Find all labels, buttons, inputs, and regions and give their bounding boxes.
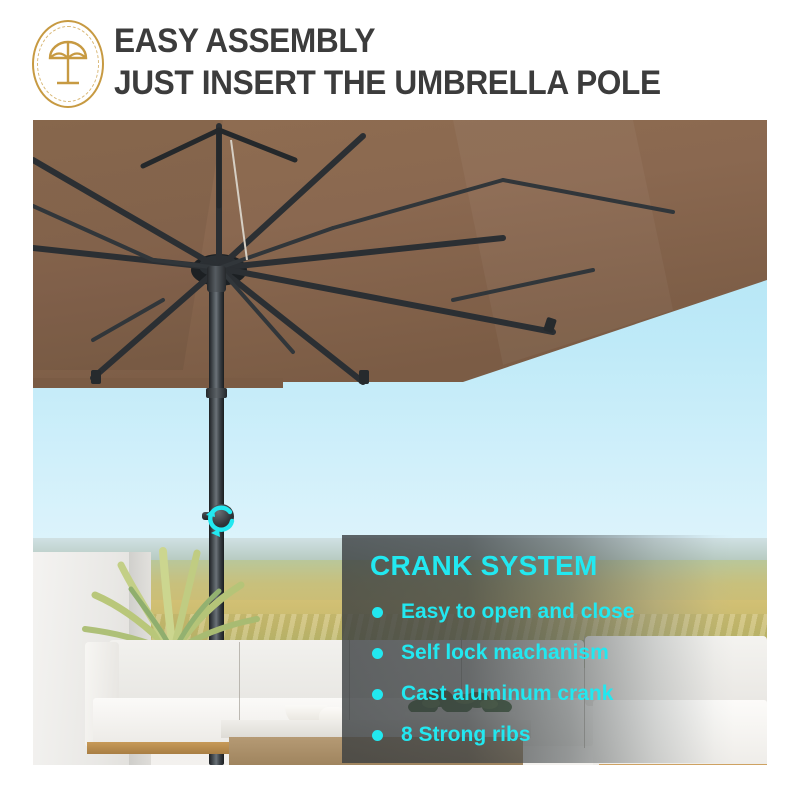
headline-line-1: EASY ASSEMBLY [114, 20, 737, 62]
pole-tilt-joint [207, 266, 226, 292]
product-feature-poster: EASY ASSEMBLY JUST INSERT THE UMBRELLA P… [0, 0, 800, 800]
bullet-icon [372, 648, 383, 659]
sofa-wood-base-right [599, 764, 767, 765]
header-banner: EASY ASSEMBLY JUST INSERT THE UMBRELLA P… [0, 0, 800, 120]
headline-block: EASY ASSEMBLY JUST INSERT THE UMBRELLA P… [114, 20, 784, 104]
feature-item: Self lock machanism [370, 632, 728, 673]
feature-list: Easy to open and close Self lock machani… [370, 591, 728, 755]
bullet-icon [372, 607, 383, 618]
headline-line-2: JUST INSERT THE UMBRELLA POLE [114, 62, 737, 104]
beach-umbrella-icon [46, 38, 90, 90]
bullet-icon [372, 730, 383, 741]
agave-plant [73, 545, 273, 655]
crank-rotation-arrows-icon [205, 503, 239, 537]
umbrella-canopy [33, 120, 767, 420]
feature-item: Easy to open and close [370, 591, 728, 632]
patio-photograph: CRANK SYSTEM Easy to open and close Self… [33, 120, 767, 765]
feature-label: Cast aluminum crank [401, 682, 613, 705]
feature-label: Easy to open and close [401, 600, 634, 623]
bullet-icon [372, 689, 383, 700]
beach-umbrella-badge [32, 20, 104, 108]
feature-item: 8 Strong ribs [370, 714, 728, 755]
feature-item: Cast aluminum crank [370, 673, 728, 714]
crank-system-overlay: CRANK SYSTEM Easy to open and close Self… [342, 535, 734, 763]
feature-label: Self lock machanism [401, 641, 609, 664]
pole-collar [206, 388, 227, 398]
feature-label: 8 Strong ribs [401, 723, 531, 746]
overlay-title: CRANK SYSTEM [370, 549, 728, 583]
